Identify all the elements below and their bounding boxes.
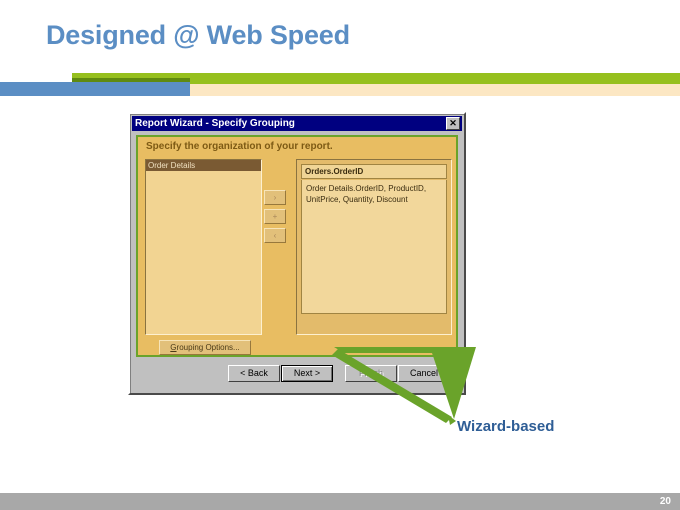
move-right-icon[interactable]: › — [264, 190, 286, 205]
panel-heading: Specify the organization of your report. — [146, 141, 333, 152]
back-button[interactable]: < Back — [228, 365, 280, 382]
wizard-nav-row: < Back Next > Finish Cancel — [130, 365, 468, 385]
group-header-row: Orders.OrderID — [301, 164, 447, 179]
move-left-icon[interactable]: ‹ — [264, 228, 286, 243]
callout-label: Wizard-based — [457, 418, 554, 435]
transfer-button-column: › + ‹ — [264, 190, 288, 247]
grouping-options-button[interactable]: Grouping Options... — [159, 340, 251, 355]
close-icon[interactable]: ✕ — [446, 117, 460, 130]
page-title: Designed @ Web Speed — [46, 20, 350, 51]
grouping-preview-pane[interactable]: Orders.OrderID Order Details.OrderID, Pr… — [296, 159, 452, 335]
move-priority-icon[interactable]: + — [264, 209, 286, 224]
dialog-title: Report Wizard - Specify Grouping — [135, 116, 446, 131]
page-number: 20 — [660, 495, 671, 508]
available-fields-list[interactable]: Order Details — [145, 159, 262, 335]
dialog-titlebar[interactable]: Report Wizard - Specify Grouping ✕ — [132, 116, 462, 131]
dialog-content-panel: Specify the organization of your report.… — [136, 135, 458, 357]
footer-bar: 20 — [0, 493, 680, 510]
group-detail-row: Order Details.OrderID, ProductID, UnitPr… — [301, 180, 447, 314]
cancel-button[interactable]: Cancel — [398, 365, 450, 382]
list-item[interactable]: Order Details — [146, 160, 261, 171]
next-button[interactable]: Next > — [281, 365, 333, 382]
grouping-options-rest: rouping Options... — [177, 344, 240, 352]
accent-bar-cream — [188, 84, 680, 96]
accent-bar-blue — [0, 82, 190, 96]
finish-button: Finish — [345, 365, 397, 382]
report-wizard-dialog: Report Wizard - Specify Grouping ✕ Speci… — [128, 112, 466, 395]
